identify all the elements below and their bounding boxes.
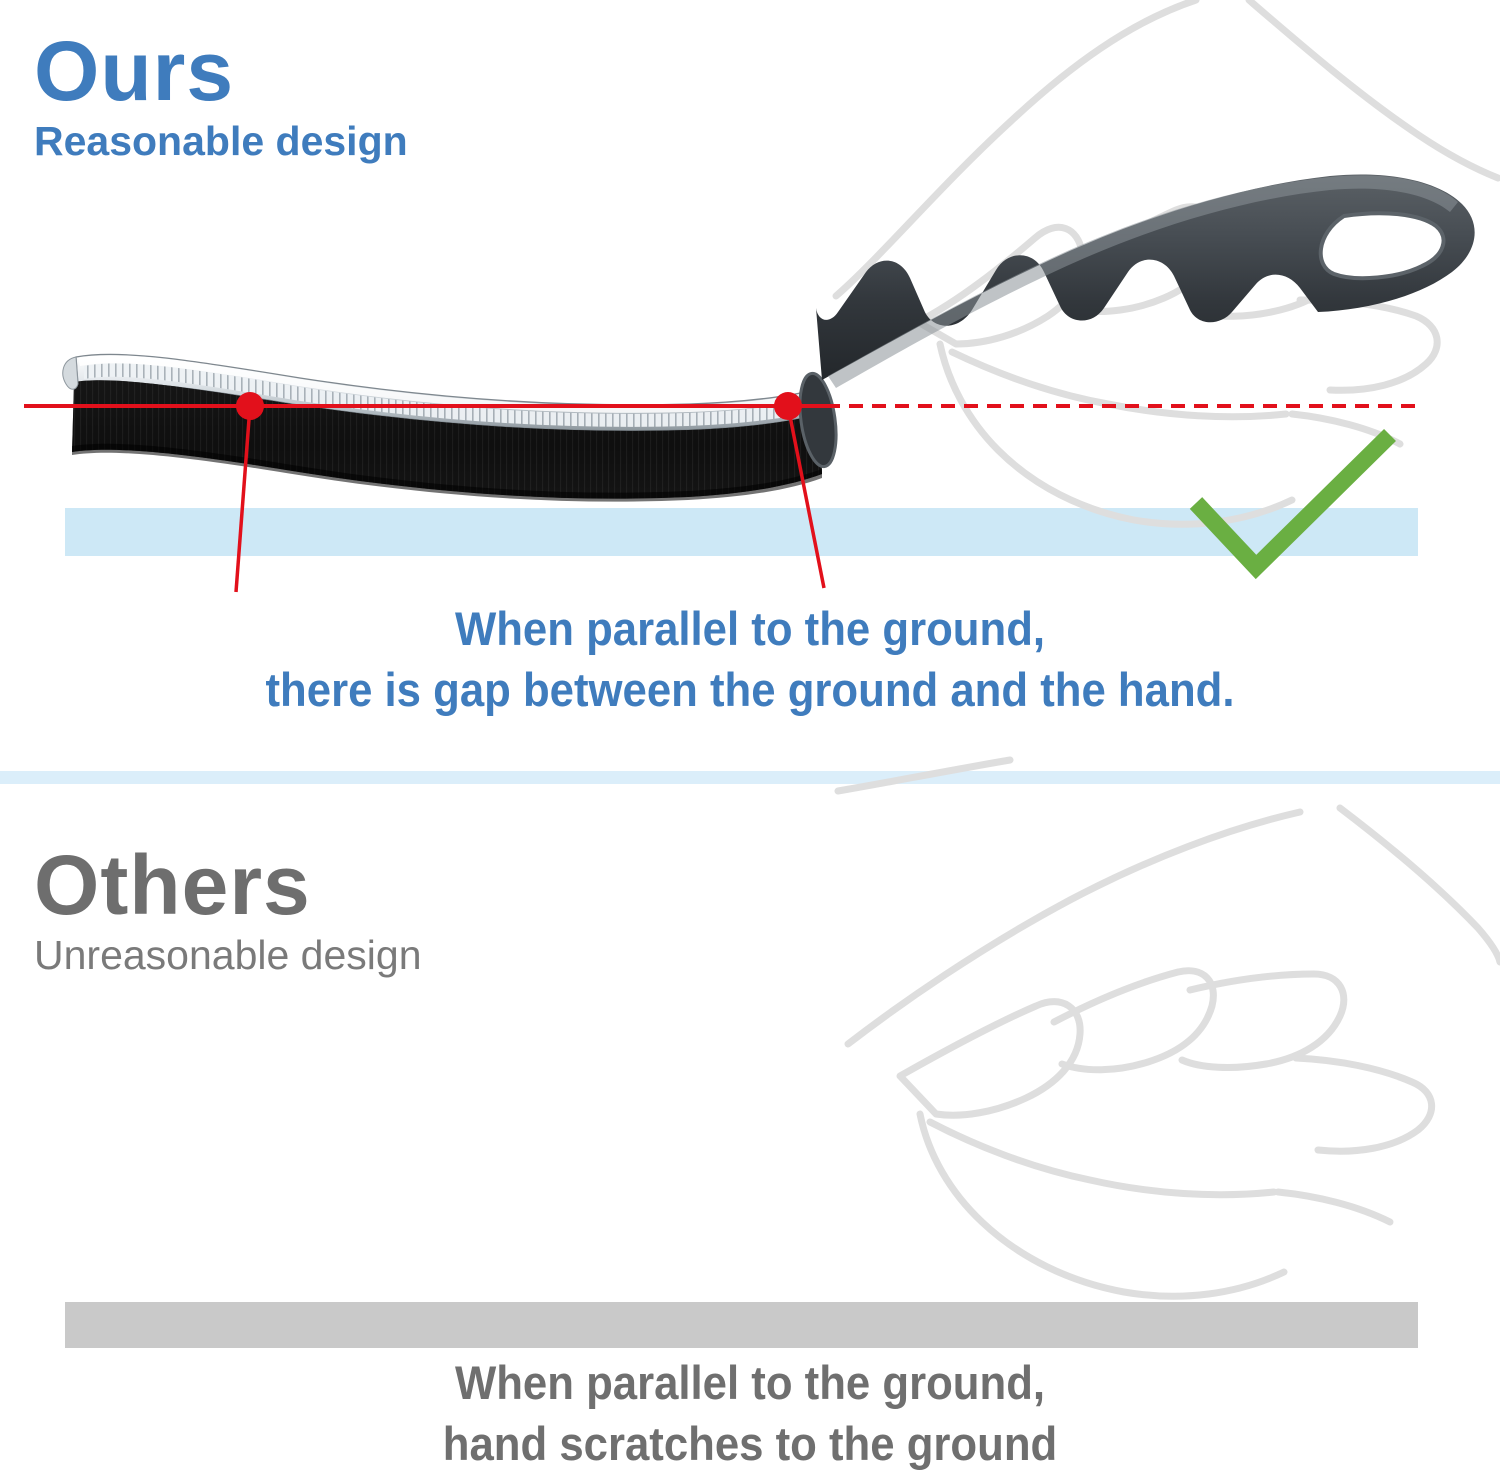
ours-caption-line1: When parallel to the ground,: [53, 598, 1448, 659]
marker-dot-left: [236, 392, 264, 420]
others-caption-line1: When parallel to the ground,: [53, 1352, 1448, 1413]
brush-end-cap: [63, 357, 78, 389]
section-others: Others Unreasonable design: [0, 790, 1500, 1483]
section-divider: [0, 771, 1500, 784]
marker-dot-right: [774, 392, 802, 420]
ours-caption: When parallel to the ground, there is ga…: [53, 598, 1448, 720]
ground-bar-gray: [65, 1302, 1418, 1348]
ours-caption-line2: there is gap between the ground and the …: [53, 659, 1448, 720]
hand-outline-sketch: [838, 760, 1500, 1296]
section-ours: Ours Reasonable design: [0, 0, 1500, 775]
others-caption: When parallel to the ground, hand scratc…: [53, 1352, 1448, 1474]
others-caption-line2: hand scratches to the ground: [53, 1413, 1448, 1474]
